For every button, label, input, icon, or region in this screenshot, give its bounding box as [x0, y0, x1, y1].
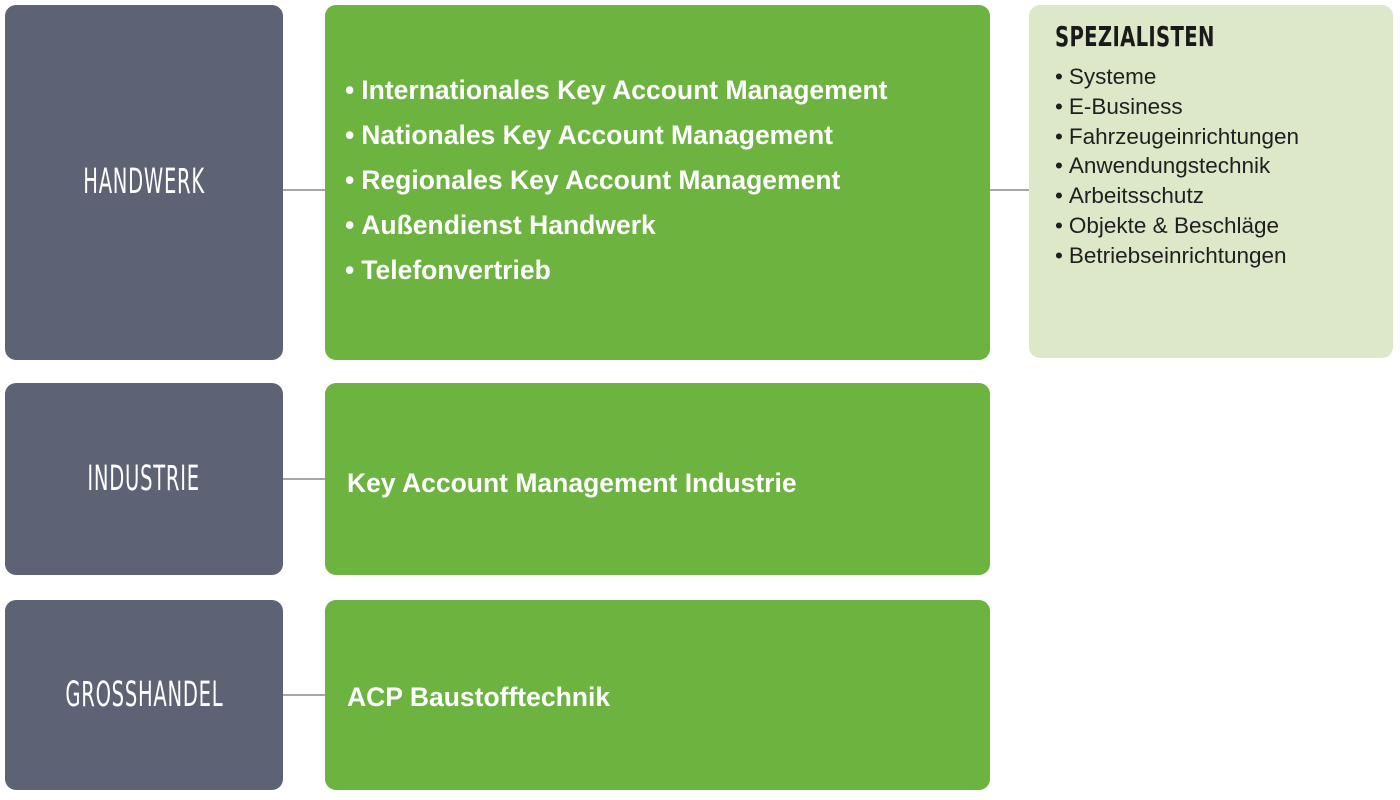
list-item-label: Arbeitsschutz: [1069, 183, 1204, 208]
bullet-icon: •: [1055, 62, 1063, 92]
list-item[interactable]: •Arbeitsschutz: [1055, 181, 1385, 211]
category-label-handwerk: HANDWERK: [83, 165, 205, 200]
list-item[interactable]: •Objekte & Beschläge: [1055, 211, 1385, 241]
connector-grosshandel-to-service: [283, 694, 326, 696]
connector-list-to-specialists: [990, 189, 1030, 191]
list-item-label: Fahrzeugeinrichtungen: [1069, 124, 1299, 149]
bullet-icon: •: [345, 203, 354, 248]
bullet-icon: •: [345, 158, 354, 203]
list-item[interactable]: •Anwendungstechnik: [1055, 151, 1385, 181]
bullet-icon: •: [1055, 151, 1063, 181]
list-item-label: Außendienst Handwerk: [361, 210, 656, 240]
list-item[interactable]: •Fahrzeugeinrichtungen: [1055, 122, 1385, 152]
bullet-icon: •: [345, 68, 354, 113]
bullet-icon: •: [1055, 181, 1063, 211]
connector-handwerk-to-list: [283, 189, 326, 191]
list-item-label: Systeme: [1069, 64, 1157, 89]
list-item-label: Internationales Key Account Management: [361, 75, 887, 105]
bullet-icon: •: [1055, 92, 1063, 122]
list-item[interactable]: •E-Business: [1055, 92, 1385, 122]
org-diagram-canvas: HANDWERK •Internationales Key Account Ma…: [0, 0, 1400, 800]
list-item[interactable]: •Betriebseinrichtungen: [1055, 241, 1385, 271]
list-item-label: Anwendungstechnik: [1069, 153, 1270, 178]
list-item[interactable]: •Telefonvertrieb: [345, 248, 985, 293]
bullet-icon: •: [1055, 211, 1063, 241]
category-box-grosshandel[interactable]: GROSSHANDEL: [5, 600, 283, 790]
list-item[interactable]: •Internationales Key Account Management: [345, 68, 985, 113]
list-item[interactable]: •Systeme: [1055, 62, 1385, 92]
category-label-industrie: INDUSTRIE: [88, 462, 200, 497]
list-item[interactable]: •Nationales Key Account Management: [345, 113, 985, 158]
connector-industrie-to-service: [283, 478, 326, 480]
service-label-industrie[interactable]: Key Account Management Industrie: [347, 470, 797, 497]
specialists-list: •Systeme •E-Business •Fahrzeugeinrichtun…: [1055, 62, 1385, 271]
bullet-icon: •: [345, 248, 354, 293]
list-item[interactable]: •Außendienst Handwerk: [345, 203, 985, 248]
list-item-label: E-Business: [1069, 94, 1183, 119]
list-item-label: Objekte & Beschläge: [1069, 213, 1279, 238]
list-item-label: Regionales Key Account Management: [361, 165, 840, 195]
service-list-handwerk: •Internationales Key Account Management …: [345, 68, 985, 293]
category-box-handwerk[interactable]: HANDWERK: [5, 5, 283, 360]
list-item-label: Betriebseinrichtungen: [1069, 243, 1287, 268]
service-label-grosshandel[interactable]: ACP Baustofftechnik: [347, 684, 610, 711]
category-box-industrie[interactable]: INDUSTRIE: [5, 383, 283, 575]
list-item-label: Nationales Key Account Management: [361, 120, 833, 150]
category-label-grosshandel: GROSSHANDEL: [65, 678, 223, 713]
bullet-icon: •: [345, 113, 354, 158]
list-item[interactable]: •Regionales Key Account Management: [345, 158, 985, 203]
specialists-title: SPEZIALISTEN: [1055, 23, 1215, 51]
bullet-icon: •: [1055, 241, 1063, 271]
bullet-icon: •: [1055, 122, 1063, 152]
list-item-label: Telefonvertrieb: [361, 255, 550, 285]
